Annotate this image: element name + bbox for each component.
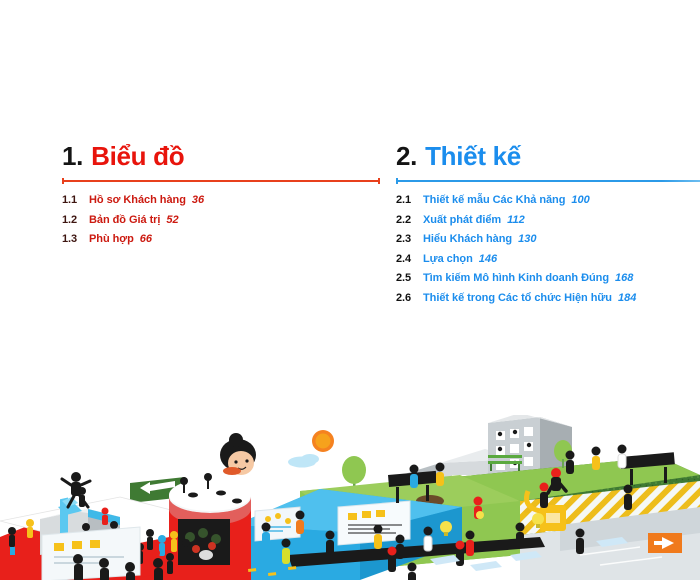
toc-entry[interactable]: 2.2 Xuất phát điểm 112 [396,215,696,226]
table-of-contents: 1. Biểu đồ 1.1 Hồ sơ Khách hàng 36 1.2 B… [0,0,700,420]
entry-page: 52 [166,215,178,226]
isometric-city-illustration [0,415,700,580]
illustration-canvas [0,415,700,580]
entry-page: 112 [507,215,525,226]
entry-page: 146 [479,254,497,265]
toc-entry[interactable]: 1.1 Hồ sơ Khách hàng 36 [62,195,380,206]
entry-number: 1.1 [62,195,89,206]
toc-entry[interactable]: 2.1 Thiết kế mẫu Các Khả năng 100 [396,195,696,206]
toc-entry[interactable]: 1.3 Phù hợp 66 [62,234,380,245]
entry-page: 184 [618,293,636,304]
entry-title: Hiểu Khách hàng [423,234,512,245]
entry-number: 2.4 [396,254,423,265]
entry-number: 2.5 [396,273,423,284]
chapter-2-number: 2. [396,142,417,170]
divider-cap-right-icon [378,178,380,184]
toc-entry[interactable]: 2.5 Tìm kiếm Mô hình Kinh doanh Đúng 168 [396,273,696,284]
whiteboard [255,507,300,541]
toc-entry[interactable]: 1.2 Bản đồ Giá trị 52 [62,215,380,226]
entry-number: 2.1 [396,195,423,206]
entry-title: Thiết kế trong Các tổ chức Hiện hữu [423,293,612,304]
sun-icon [312,430,334,452]
entry-page: 100 [571,195,589,206]
entry-page: 168 [615,273,633,284]
entry-title: Hồ sơ Khách hàng [89,195,186,206]
divider-bar [62,180,380,182]
orange-arrow-sign-icon [648,533,682,553]
chapter-column-1: 1. Biểu đồ 1.1 Hồ sơ Khách hàng 36 1.2 B… [62,142,380,254]
red-cylinder-tower [169,479,251,580]
entry-title: Thiết kế mẫu Các Khả năng [423,195,565,206]
chapter-1-number: 1. [62,142,83,170]
chapter-2-title: Thiết kế [425,142,521,170]
large-face-character [220,433,256,475]
entry-number: 2.6 [396,293,423,304]
entry-number: 2.3 [396,234,423,245]
entry-number: 1.2 [62,215,89,226]
presentation-board [42,527,140,580]
chapter-column-2: 2. Thiết kế 2.1 Thiết kế mẫu Các Khả năn… [396,142,696,312]
entry-title: Bản đồ Giá trị [89,215,160,226]
toc-entry[interactable]: 2.3 Hiểu Khách hàng 130 [396,234,696,245]
chapter-2-heading: 2. Thiết kế [396,142,696,170]
entry-page: 66 [140,234,152,245]
entry-title: Phù hợp [89,234,134,245]
entry-number: 1.3 [62,234,89,245]
entry-number: 2.2 [396,215,423,226]
chapter-1-entries: 1.1 Hồ sơ Khách hàng 36 1.2 Bản đồ Giá t… [62,195,380,245]
chapter-1-title: Biểu đồ [91,142,184,170]
chapter-2-entries: 2.1 Thiết kế mẫu Các Khả năng 100 2.2 Xu… [396,195,696,304]
chapter-1-heading: 1. Biểu đồ [62,142,380,170]
divider-bar [396,180,700,182]
entry-title: Lựa chọn [423,254,473,265]
entry-page: 130 [518,234,536,245]
chapter-1-divider [62,179,380,182]
entry-title: Xuất phát điểm [423,215,501,226]
entry-page: 36 [192,195,204,206]
toc-entry[interactable]: 2.6 Thiết kế trong Các tổ chức Hiện hữu … [396,293,696,304]
toc-entry[interactable]: 2.4 Lựa chọn 146 [396,254,696,265]
entry-title: Tìm kiếm Mô hình Kinh doanh Đúng [423,273,609,284]
chapter-2-divider [396,179,700,182]
